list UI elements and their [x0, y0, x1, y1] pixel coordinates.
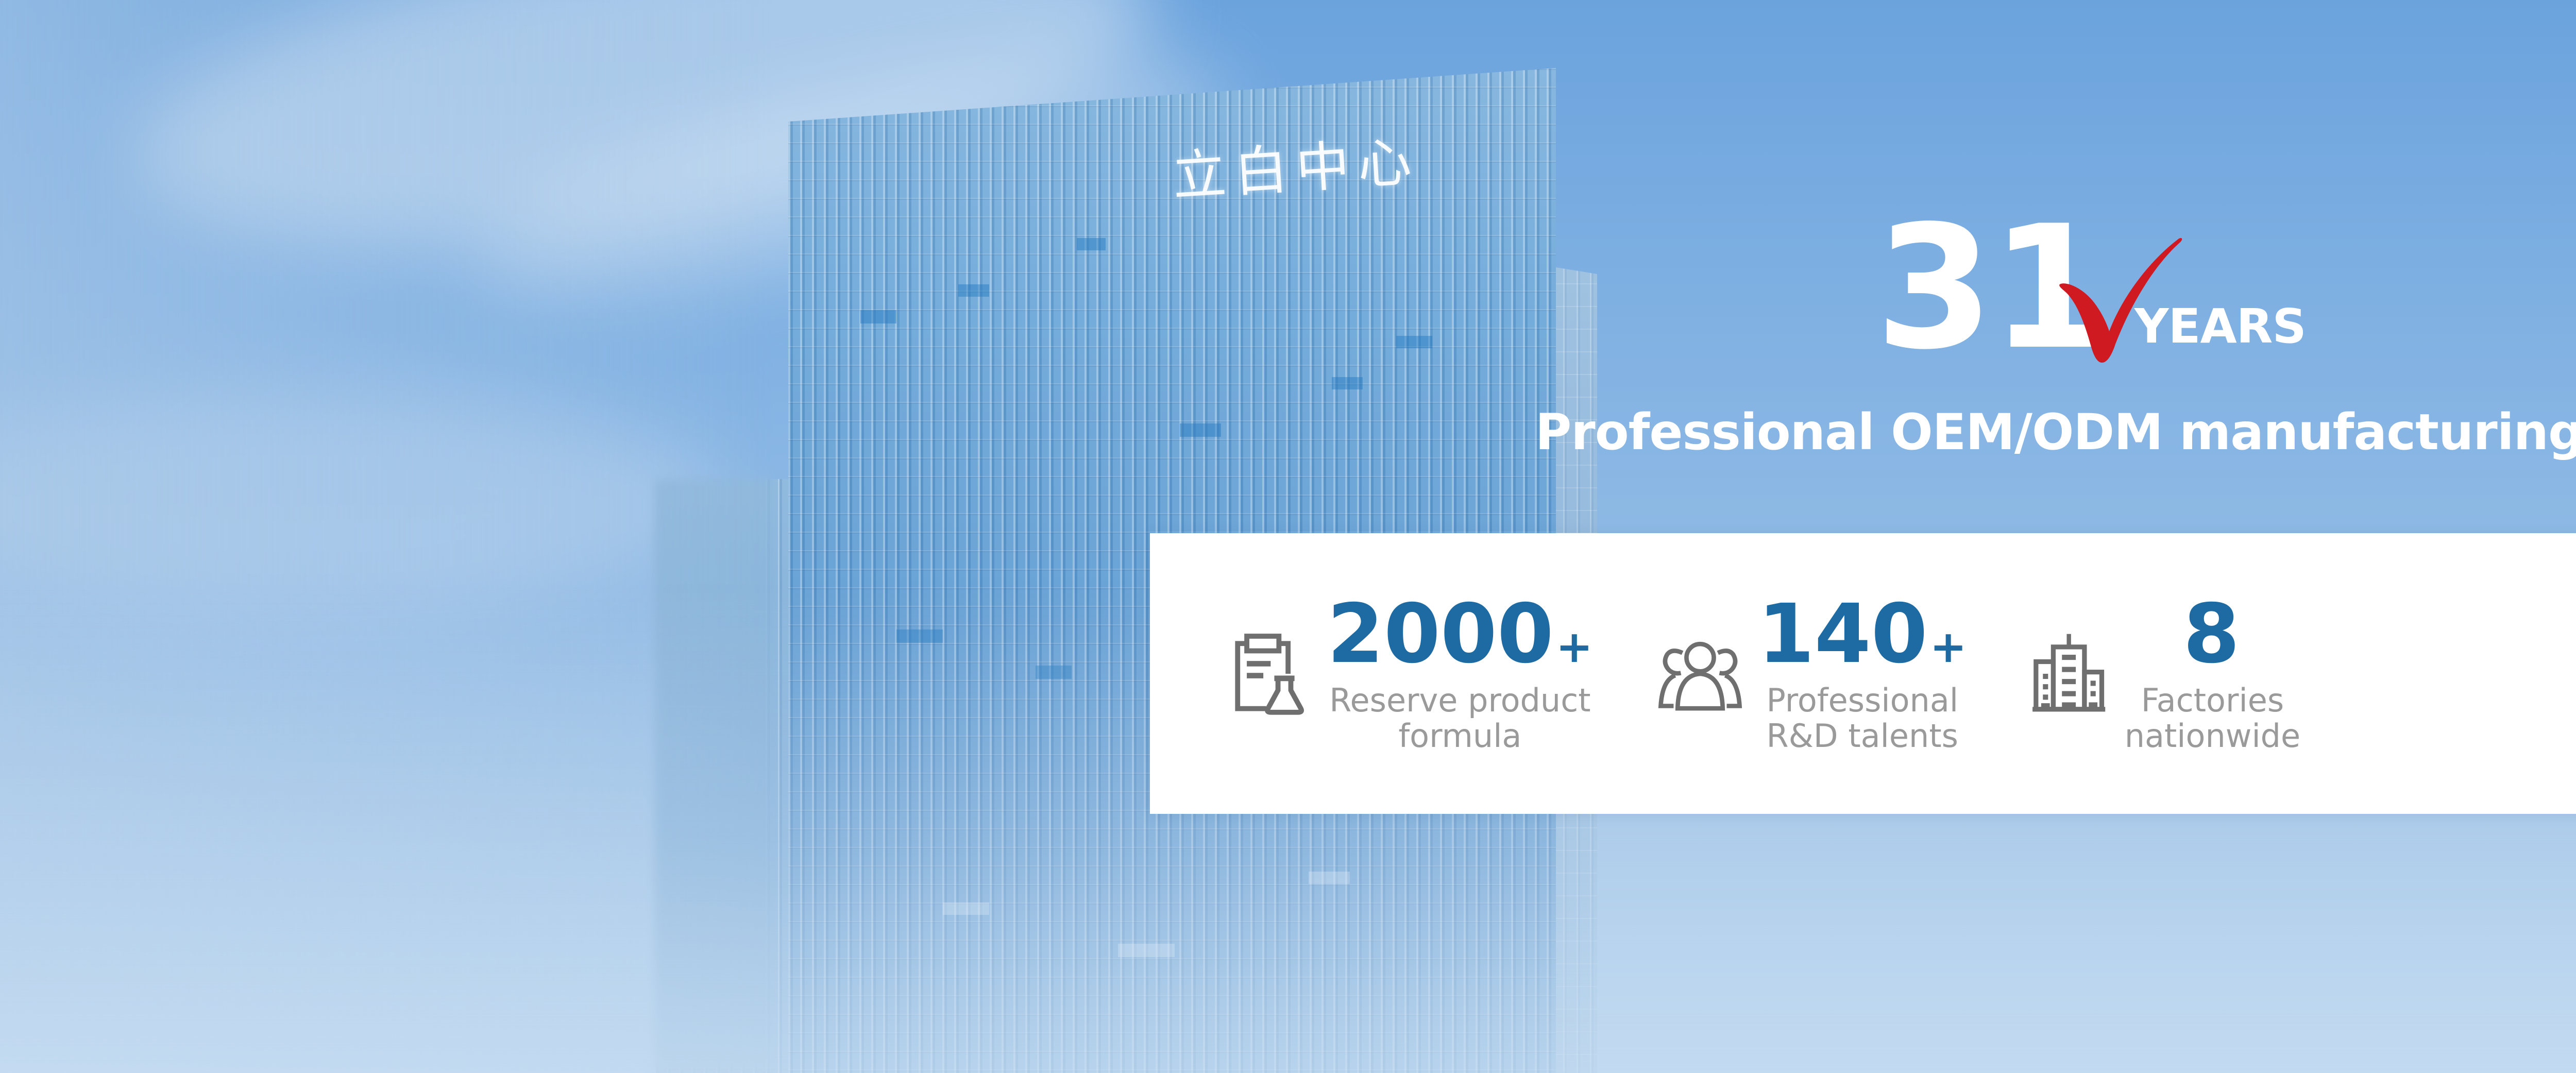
stat-label: Factories nationwide [2125, 683, 2300, 754]
stat-value: 140+ [1758, 593, 1967, 676]
people-group-icon [1656, 635, 1744, 712]
stat-label: Professional R&D talents [1766, 683, 1958, 754]
tower-lit-window [1077, 238, 1106, 250]
stat-suffix: + [1556, 625, 1593, 670]
hero-banner: 立白中心 31 YEARS Professional OEM/ODM manuf… [0, 0, 2576, 1073]
stat-text: 8 Factories nationwide [2125, 593, 2300, 754]
stat-text: 2000+ Reserve product formula [1327, 593, 1593, 754]
stat-number: 140 [1758, 593, 1928, 676]
tower-lit-window [958, 284, 989, 297]
stat-value: 2000+ [1327, 593, 1593, 676]
tower-lit-window [860, 310, 896, 323]
years-label: YEARS [2134, 299, 2306, 354]
stat-item-reserve-formula: 2000+ Reserve product formula [1222, 593, 1593, 754]
stats-strip: 2000+ Reserve product formula [1150, 533, 2576, 814]
stat-number: 2000 [1327, 593, 1554, 676]
tower-lit-window [1396, 336, 1432, 348]
stat-number: 8 [2183, 593, 2240, 676]
stat-suffix: + [1930, 625, 1967, 670]
anniversary-row: 31 YEARS [1875, 222, 2576, 350]
stat-item-factories: 8 Factories nationwide [2025, 593, 2300, 754]
clipboard-flask-icon [1222, 628, 1314, 720]
stats-card: 2000+ Reserve product formula [1150, 533, 2576, 814]
stat-label: Reserve product formula [1329, 683, 1590, 754]
building-rooftop-sign: 立白中心 [1170, 117, 1421, 210]
tower-lit-window [1180, 423, 1221, 437]
stat-value: 8 [2183, 593, 2242, 676]
buildings-icon [2025, 631, 2111, 717]
stat-item-rd-talents: 140+ Professional R&D talents [1656, 593, 1967, 754]
tower-lit-window [1332, 377, 1363, 389]
tagline-text: Professional OEM/ODM manufacturing solut… [1535, 403, 2576, 461]
headline-block: 31 YEARS [1875, 222, 2576, 366]
stat-text: 140+ Professional R&D talents [1758, 593, 1967, 754]
